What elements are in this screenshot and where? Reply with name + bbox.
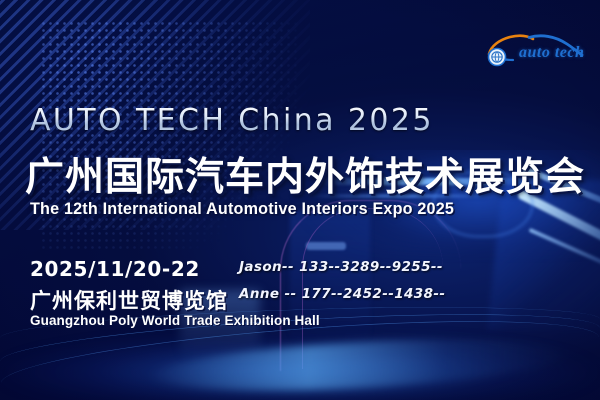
page-title-english: AUTO TECH China 2025 (30, 103, 434, 138)
auto-tech-logo[interactable]: auto tech (483, 28, 585, 72)
event-venue-english: Guangzhou Poly World Trade Exhibition Ha… (30, 313, 320, 328)
contact-line-anne: Anne -- 177--2452--1438-- (239, 286, 445, 302)
page-title-chinese: 广州国际汽车内外饰技术展览会 (25, 146, 585, 202)
page-subtitle-english: The 12th International Automotive Interi… (30, 199, 454, 219)
auto-tech-poster: auto tech AUTO TECH China 2025 广州国际汽车内外饰… (0, 0, 600, 400)
logo-text: auto tech (519, 44, 584, 62)
event-venue-chinese: 广州保利世贸博览馆 (30, 285, 228, 315)
contact-line-jason: Jason-- 133--3289--9255-- (239, 259, 443, 275)
event-date: 2025/11/20-22 (30, 257, 200, 281)
